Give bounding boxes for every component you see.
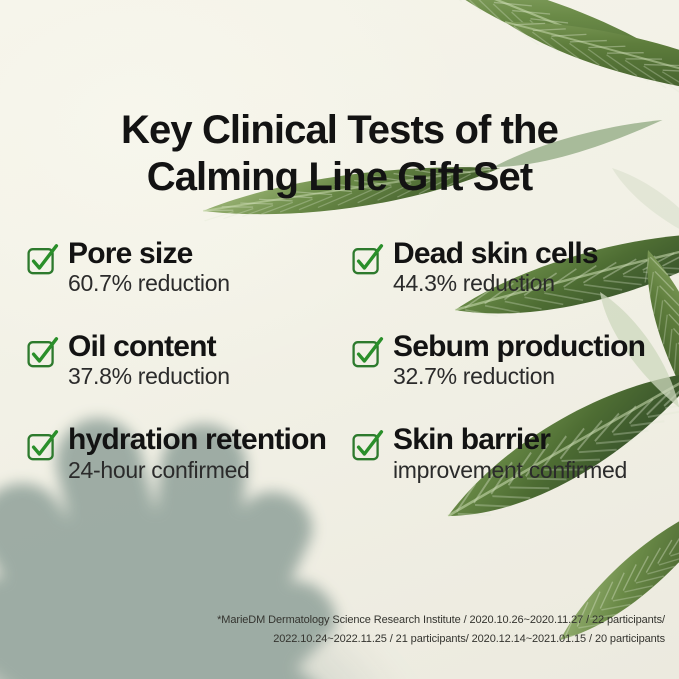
result-text-group: Dead skin cells 44.3% reduction: [393, 238, 679, 297]
title-line-2: Calming Line Gift Set: [52, 154, 627, 201]
result-claim: hydration retention: [68, 423, 326, 456]
result-detail: 60.7% reduction: [68, 270, 230, 296]
result-detail: 24-hour confirmed: [68, 457, 250, 483]
result-item-hydration-retention: hydration retention 24-hour confirmed: [0, 424, 346, 483]
checkbox-checked-icon: [352, 431, 382, 461]
study-footnote: *MarieDM Dermatology Science Research In…: [217, 611, 665, 649]
footnote-line-1: *MarieDM Dermatology Science Research In…: [217, 611, 665, 630]
result-detail: 44.3% reduction: [393, 270, 555, 296]
result-detail: 37.8% reduction: [68, 363, 230, 389]
clinical-results-grid: Pore size 60.7% reduction Dead skin cell…: [0, 238, 679, 518]
result-item-skin-barrier: Skin barrier improvement confirmed: [346, 424, 679, 483]
result-item-dead-skin-cells: Dead skin cells 44.3% reduction: [346, 238, 679, 297]
result-detail: 32.7% reduction: [393, 363, 555, 389]
result-text-group: Sebum production 32.7% reduction: [393, 331, 679, 390]
promotional-poster: Key Clinical Tests of the Calming Line G…: [0, 0, 679, 679]
checkbox-checked-icon: [27, 245, 57, 275]
checkbox-checked-icon: [27, 338, 57, 368]
page-title: Key Clinical Tests of the Calming Line G…: [0, 107, 679, 201]
results-row: Oil content 37.8% reduction Sebum produc…: [0, 331, 679, 390]
results-row: Pore size 60.7% reduction Dead skin cell…: [0, 238, 679, 297]
result-item-oil-content: Oil content 37.8% reduction: [0, 331, 346, 390]
result-text-group: hydration retention 24-hour confirmed: [68, 424, 346, 483]
checkbox-checked-icon: [352, 245, 382, 275]
result-detail: improvement confirmed: [393, 457, 627, 483]
result-text-group: Oil content 37.8% reduction: [68, 331, 346, 390]
results-row: hydration retention 24-hour confirmed Sk…: [0, 424, 679, 483]
result-claim: Sebum production: [393, 330, 645, 363]
result-claim: Pore size: [68, 237, 193, 270]
result-item-pore-size: Pore size 60.7% reduction: [0, 238, 346, 297]
result-claim: Dead skin cells: [393, 237, 598, 270]
result-text-group: Pore size 60.7% reduction: [68, 238, 346, 297]
checkbox-checked-icon: [27, 431, 57, 461]
checkbox-checked-icon: [352, 338, 382, 368]
title-line-1: Key Clinical Tests of the: [121, 108, 558, 152]
result-claim: Oil content: [68, 330, 216, 363]
result-text-group: Skin barrier improvement confirmed: [393, 424, 679, 483]
footnote-line-2: 2022.10.24~2022.11.25 / 21 participants/…: [217, 630, 665, 649]
result-item-sebum-production: Sebum production 32.7% reduction: [346, 331, 679, 390]
result-claim: Skin barrier: [393, 423, 550, 456]
